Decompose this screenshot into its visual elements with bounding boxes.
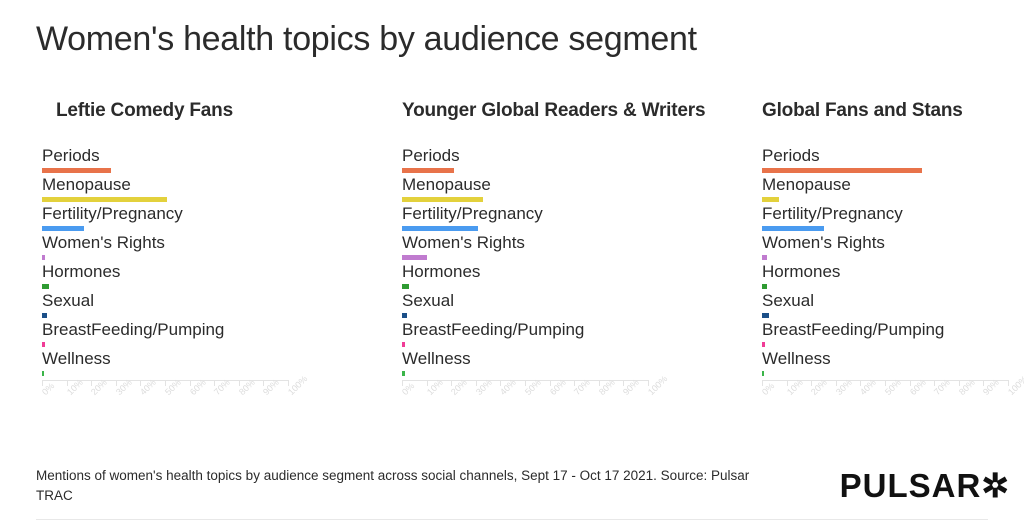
chart-category-row: Menopause	[762, 177, 1008, 206]
x-axis-tick	[239, 380, 240, 386]
bar-menopause	[402, 197, 483, 202]
x-axis-tick	[550, 380, 551, 386]
bar-women-s-rights	[762, 255, 767, 260]
category-label: Menopause	[762, 175, 851, 194]
category-label: BreastFeeding/Pumping	[762, 320, 944, 339]
category-label: Menopause	[42, 175, 131, 194]
category-label: Hormones	[762, 262, 840, 281]
x-axis-tick-label: 100%	[646, 374, 669, 397]
x-axis-tick	[67, 380, 68, 386]
chart-category-row: Fertility/Pregnancy	[402, 206, 648, 235]
bar-breastfeeding-pumping	[42, 342, 45, 347]
category-label: Wellness	[762, 349, 831, 368]
page-title: Women's health topics by audience segmen…	[36, 20, 697, 59]
chart-title: Leftie Comedy Fans	[56, 100, 360, 122]
chart-category-row: BreastFeeding/Pumping	[402, 322, 648, 351]
x-axis-tick	[762, 380, 763, 386]
x-axis-tick	[427, 380, 428, 386]
x-axis-tick	[165, 380, 166, 386]
chart-category-row: Hormones	[762, 264, 1008, 293]
x-axis-tick	[836, 380, 837, 386]
chart-category-row: Menopause	[42, 177, 288, 206]
chart-category-row: Hormones	[42, 264, 288, 293]
category-label: Women's Rights	[762, 233, 885, 252]
x-axis-tick	[525, 380, 526, 386]
bar-menopause	[762, 197, 779, 202]
bar-breastfeeding-pumping	[762, 342, 765, 347]
chart-category-row: BreastFeeding/Pumping	[42, 322, 288, 351]
asterisk-icon: ✲	[981, 467, 1010, 504]
x-axis-tick	[402, 380, 403, 386]
category-label: Hormones	[42, 262, 120, 281]
footer-note: Mentions of women's health topics by aud…	[36, 466, 776, 506]
category-label: BreastFeeding/Pumping	[42, 320, 224, 339]
chart-category-row: Fertility/Pregnancy	[762, 206, 1008, 235]
brand-name: PULSAR	[840, 467, 982, 504]
category-label: Sexual	[42, 291, 94, 310]
chart-panel-leftie-comedy-fans: Leftie Comedy Fans PeriodsMenopauseFerti…	[0, 100, 360, 430]
category-label: Sexual	[762, 291, 814, 310]
bar-fertility-pregnancy	[42, 226, 84, 231]
x-axis-tick	[42, 380, 43, 386]
bar-breastfeeding-pumping	[402, 342, 405, 347]
category-label: Sexual	[402, 291, 454, 310]
bar-hormones	[762, 284, 767, 289]
category-label: Fertility/Pregnancy	[762, 204, 903, 223]
x-axis-tick	[1008, 380, 1009, 386]
chart-title: Younger Global Readers & Writers	[402, 100, 720, 122]
charts-row: Leftie Comedy Fans PeriodsMenopauseFerti…	[0, 100, 1024, 430]
x-axis-tick	[476, 380, 477, 386]
category-label: Hormones	[402, 262, 480, 281]
x-axis-tick-label: 100%	[1006, 374, 1024, 397]
bar-wellness	[402, 371, 405, 376]
category-label: Women's Rights	[42, 233, 165, 252]
category-label: Periods	[402, 146, 460, 165]
chart-category-row: Menopause	[402, 177, 648, 206]
bar-periods	[42, 168, 111, 173]
chart-plot-area: PeriodsMenopauseFertility/PregnancyWomen…	[42, 148, 288, 380]
chart-category-row: Sexual	[762, 293, 1008, 322]
category-label: Wellness	[402, 349, 471, 368]
bar-sexual	[42, 313, 47, 318]
chart-title: Global Fans and Stans	[762, 100, 1024, 122]
chart-category-row: Women's Rights	[762, 235, 1008, 264]
bar-periods	[402, 168, 454, 173]
category-label: Periods	[42, 146, 100, 165]
chart-category-row: Wellness	[762, 351, 1008, 380]
category-label: BreastFeeding/Pumping	[402, 320, 584, 339]
x-axis-tick-label: 100%	[286, 374, 309, 397]
category-label: Menopause	[402, 175, 491, 194]
x-axis-tick	[910, 380, 911, 386]
bar-fertility-pregnancy	[762, 226, 824, 231]
bar-wellness	[42, 371, 44, 376]
category-label: Women's Rights	[402, 233, 525, 252]
bar-women-s-rights	[42, 255, 45, 260]
pulsar-logo: PULSAR✲	[840, 466, 1010, 505]
chart-category-row: Women's Rights	[42, 235, 288, 264]
chart-plot-area: PeriodsMenopauseFertility/PregnancyWomen…	[402, 148, 648, 380]
chart-category-row: Wellness	[42, 351, 288, 380]
chart-category-row: BreastFeeding/Pumping	[762, 322, 1008, 351]
bar-sexual	[762, 313, 769, 318]
bar-hormones	[402, 284, 409, 289]
bar-sexual	[402, 313, 407, 318]
x-axis-tick	[885, 380, 886, 386]
category-label: Periods	[762, 146, 820, 165]
chart-category-row: Periods	[402, 148, 648, 177]
x-axis-tick	[599, 380, 600, 386]
x-axis-tick	[787, 380, 788, 386]
chart-category-row: Wellness	[402, 351, 648, 380]
chart-panel-younger-global-readers-writers: Younger Global Readers & Writers Periods…	[360, 100, 720, 430]
bottom-divider	[36, 519, 988, 520]
chart-category-row: Sexual	[402, 293, 648, 322]
bar-hormones	[42, 284, 49, 289]
x-axis-tick	[190, 380, 191, 386]
bar-fertility-pregnancy	[402, 226, 478, 231]
x-axis-tick	[288, 380, 289, 386]
chart-category-row: Fertility/Pregnancy	[42, 206, 288, 235]
chart-category-row: Periods	[42, 148, 288, 177]
chart-category-row: Sexual	[42, 293, 288, 322]
category-label: Fertility/Pregnancy	[402, 204, 543, 223]
chart-plot-area: PeriodsMenopauseFertility/PregnancyWomen…	[762, 148, 1008, 380]
bar-periods	[762, 168, 922, 173]
slide-root: Women's health topics by audience segmen…	[0, 0, 1024, 525]
chart-category-row: Hormones	[402, 264, 648, 293]
bar-menopause	[42, 197, 167, 202]
chart-panel-global-fans-and-stans: Global Fans and Stans PeriodsMenopauseFe…	[720, 100, 1024, 430]
category-label: Wellness	[42, 349, 111, 368]
chart-category-row: Women's Rights	[402, 235, 648, 264]
bar-wellness	[762, 371, 764, 376]
chart-category-row: Periods	[762, 148, 1008, 177]
x-axis-tick	[116, 380, 117, 386]
category-label: Fertility/Pregnancy	[42, 204, 183, 223]
x-axis-tick	[648, 380, 649, 386]
x-axis-tick	[959, 380, 960, 386]
bar-women-s-rights	[402, 255, 427, 260]
